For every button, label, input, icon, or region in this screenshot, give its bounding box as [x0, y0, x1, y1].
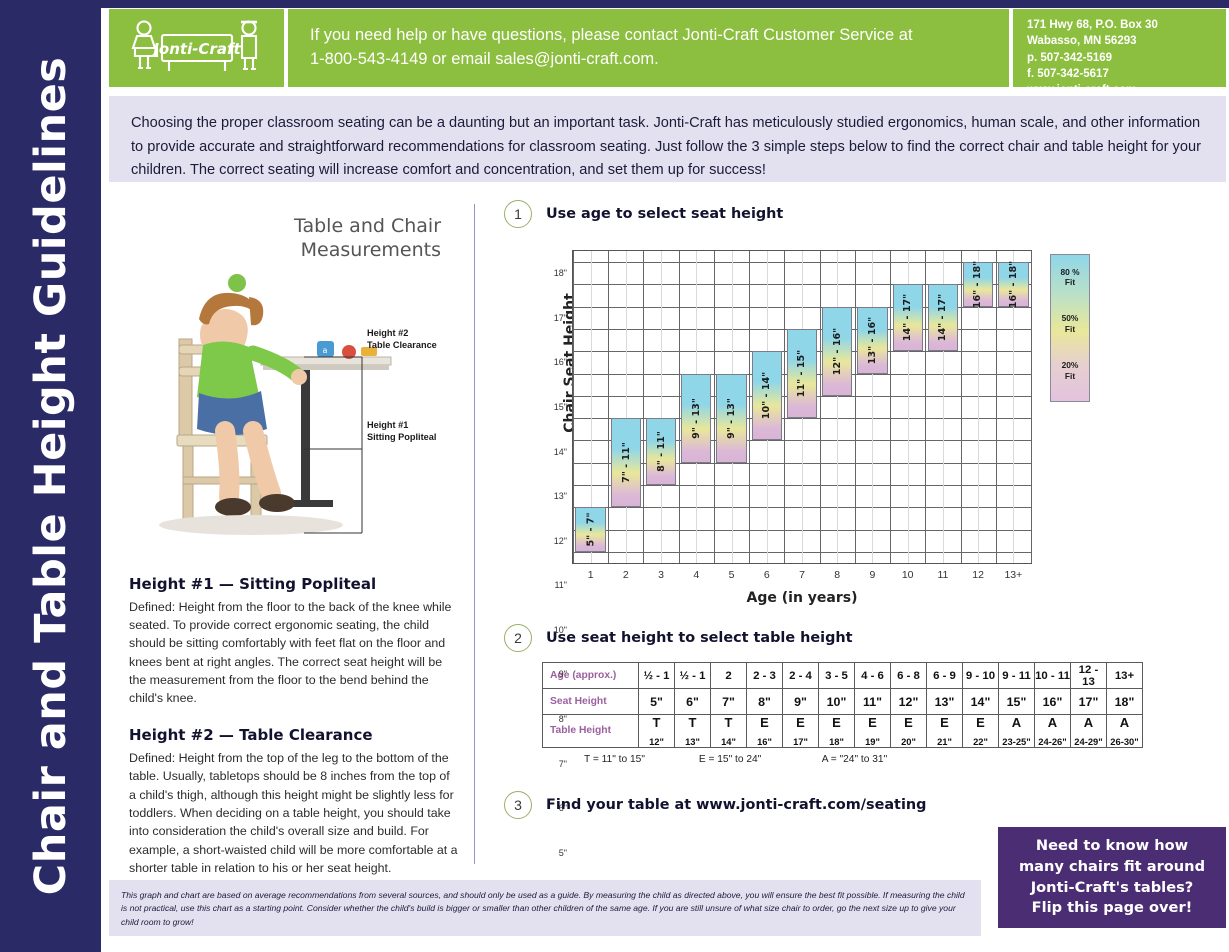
chart-gridline-v — [661, 251, 662, 563]
cell-table-height: T14" — [711, 715, 747, 748]
cell-table-height: E17" — [783, 715, 819, 748]
chart-x-tick: 2 — [623, 569, 629, 581]
cell-age: 9 - 10 — [963, 663, 999, 689]
flip-line-2: many chairs fit around — [1019, 857, 1205, 878]
measurement-brackets-icon — [304, 281, 444, 541]
chart-bar-label: 7" - 11" — [620, 442, 631, 483]
chart-bar: 7" - 11" — [611, 418, 641, 507]
table-height-code: E — [783, 715, 818, 731]
chart-gridline-v — [626, 251, 627, 563]
cell-table-height: A24-29" — [1071, 715, 1107, 748]
legend-fit-word: Fit — [1051, 324, 1089, 335]
address-line-1: 171 Hwy 68, P.O. Box 30 — [1027, 17, 1216, 33]
table-height-value: 18" — [819, 736, 854, 747]
chart-bar-label: 5" - 7" — [585, 513, 596, 547]
chart-bar-label: 16" - 18" — [1008, 261, 1019, 308]
chart-x-tick: 3 — [658, 569, 664, 581]
chart-y-tick: 10" — [554, 625, 567, 635]
table-height-value: 16" — [747, 736, 782, 747]
measurements-heading: Table and Chair Measurements — [129, 214, 459, 263]
chart-bar-label: 11" - 15" — [797, 350, 808, 397]
chart-gridline-v — [890, 251, 891, 563]
chart-x-tick: 11 — [937, 569, 948, 581]
chart-x-tick: 5 — [729, 569, 735, 581]
key-e: E = 15" to 24" — [699, 754, 819, 765]
cell-age: 6 - 8 — [891, 663, 927, 689]
phone-number: p. 507-342-5169 — [1027, 50, 1216, 66]
chart-y-tick: 5" — [559, 848, 567, 858]
intro-text: Choosing the proper classroom seating ca… — [131, 112, 1204, 183]
table-height-code: A — [1071, 715, 1106, 731]
chart-y-tick: 12" — [554, 536, 567, 546]
chart-y-tick: 11" — [554, 580, 567, 590]
legend-entry: 20%Fit — [1051, 360, 1089, 381]
annotation-height-1-line-2: Sitting Popliteal — [367, 431, 436, 443]
top-navy-strip — [101, 0, 1229, 8]
brand-logo[interactable]: Jonti-Craft — [109, 9, 284, 87]
disclaimer-panel: This graph and chart are based on averag… — [109, 880, 981, 936]
table-height-code: T — [675, 715, 710, 731]
legend-entry: 50%Fit — [1051, 313, 1089, 334]
chart-gridline-v — [573, 251, 574, 563]
chart-gridline-v — [643, 251, 644, 563]
chart-bar: 13" - 16" — [857, 307, 887, 374]
cell-seat-height: 11" — [855, 689, 891, 715]
jonti-craft-logo-icon: Jonti-Craft — [117, 17, 277, 79]
annotation-height-1-line-1: Height #1 — [367, 419, 436, 431]
chart-gridline-v — [679, 251, 680, 563]
fax-number: f. 507-342-5617 — [1027, 66, 1216, 82]
table-height-value: 23-25" — [999, 736, 1034, 747]
vertical-title-bar: Chair and Table Height Guidelines — [0, 0, 101, 952]
key-t: T = 11" to 15" — [584, 754, 696, 765]
cell-age: 2 - 3 — [747, 663, 783, 689]
chart-gridline-v — [855, 251, 856, 563]
cell-table-height: E19" — [855, 715, 891, 748]
cell-table-height: E22" — [963, 715, 999, 748]
chart-bar: 14" - 17" — [928, 284, 958, 351]
company-address: 171 Hwy 68, P.O. Box 30 Wabasso, MN 5629… — [1013, 9, 1226, 87]
annotation-height-1: Height #1 Sitting Popliteal — [367, 419, 436, 444]
annotation-height-2-line-1: Height #2 — [367, 327, 437, 339]
cell-table-height: A26-30" — [1107, 715, 1143, 748]
chart-x-tick: 10 — [902, 569, 914, 581]
table-height-value: 13" — [675, 736, 710, 747]
cell-seat-height: 5" — [639, 689, 675, 715]
chart-x-tick: 4 — [693, 569, 699, 581]
table-height-code: T — [639, 715, 674, 731]
chart-gridline-v — [837, 251, 838, 563]
customer-service-message: If you need help or have questions, plea… — [288, 9, 1009, 87]
table-height-value: 24-26" — [1035, 736, 1070, 747]
step-2-label: Use seat height to select table height — [546, 630, 853, 646]
cell-table-height: T12" — [639, 715, 675, 748]
cell-seat-height: 12" — [891, 689, 927, 715]
right-column: 1 Use age to select seat height Chair Se… — [504, 200, 1226, 819]
size-table: Age (approx.)½ - 1½ - 122 - 32 - 43 - 54… — [542, 662, 1143, 748]
cell-seat-height: 18" — [1107, 689, 1143, 715]
address-line-2: Wabasso, MN 56293 — [1027, 33, 1216, 49]
row-label-age: Age (approx.) — [543, 663, 639, 689]
table-height-value: 22" — [963, 736, 998, 747]
chart-y-tick: 15" — [554, 402, 567, 412]
chart-y-tick: 18" — [554, 268, 567, 278]
cell-age: 13+ — [1107, 663, 1143, 689]
chart-x-tick: 8 — [834, 569, 840, 581]
content-area: Table and Chair Measurements a — [109, 192, 1226, 880]
chart-gridline-v — [996, 251, 997, 563]
flip-line-1: Need to know how — [1019, 836, 1205, 857]
table-row: Seat Height5"6"7"8"9"10"11"12"13"14"15"1… — [543, 689, 1143, 715]
cell-seat-height: 6" — [675, 689, 711, 715]
cell-seat-height: 13" — [927, 689, 963, 715]
chart-plot-area: 5"6"7"8"9"10"11"12"13"14"15"16"17"18"123… — [572, 250, 1032, 564]
row-label-seat-height: Seat Height — [543, 689, 639, 715]
chart-bar-label: 9" - 13" — [691, 398, 702, 439]
cell-seat-height: 7" — [711, 689, 747, 715]
cell-age: 10 - 11 — [1035, 663, 1071, 689]
table-height-code: E — [963, 715, 998, 731]
cell-seat-height: 16" — [1035, 689, 1071, 715]
table-height-value: 20" — [891, 736, 926, 747]
step-3: 3 Find your table at www.jonti-craft.com… — [504, 791, 1226, 819]
disclaimer-text: This graph and chart are based on averag… — [121, 889, 969, 929]
height-2-body: Defined: Height from the top of the leg … — [129, 749, 459, 878]
chart-bar: 10" - 14" — [752, 351, 782, 440]
cell-age: ½ - 1 — [675, 663, 711, 689]
legend-percent: 80 % — [1051, 267, 1089, 278]
cell-age: 2 - 4 — [783, 663, 819, 689]
measurements-heading-line-2: Measurements — [129, 238, 441, 262]
chart-bar-label: 13" - 16" — [867, 316, 878, 363]
chart-gridline-v — [608, 251, 609, 563]
chart-x-tick: 9 — [870, 569, 876, 581]
cell-seat-height: 14" — [963, 689, 999, 715]
cell-table-height: E21" — [927, 715, 963, 748]
header: Jonti-Craft If you need help or have que… — [109, 9, 1226, 87]
cs-message-line-2: 1-800-543-4149 or email sales@jonti-craf… — [310, 48, 913, 72]
size-table-key: T = 11" to 15" E = 15" to 24" A = "24" t… — [584, 754, 1226, 765]
chart-bar-label: 9" - 13" — [726, 398, 737, 439]
table-height-value: 21" — [927, 736, 962, 747]
step-3-number: 3 — [504, 791, 532, 819]
cell-age: 3 - 5 — [819, 663, 855, 689]
measurements-heading-line-1: Table and Chair — [129, 214, 441, 238]
page-title: Chair and Table Height Guidelines — [0, 0, 101, 952]
child-seated-photo: a — [129, 267, 459, 557]
cell-age: 9 - 11 — [999, 663, 1035, 689]
table-height-value: 26-30" — [1107, 736, 1142, 747]
legend-percent: 20% — [1051, 360, 1089, 371]
chart-gridline-v — [872, 251, 873, 563]
chart-bar: 11" - 15" — [787, 329, 817, 418]
age-seat-height-chart: Chair Seat Height (in inches) 5"6"7"8"9"… — [504, 242, 1226, 632]
chart-x-tick: 12 — [972, 569, 984, 581]
chart-gridline-v — [820, 251, 821, 563]
height-2-heading: Height #2 — Table Clearance — [129, 726, 459, 744]
table-row: Table HeightT12"T13"T14"E16"E17"E18"E19"… — [543, 715, 1143, 748]
table-row: Age (approx.)½ - 1½ - 122 - 32 - 43 - 54… — [543, 663, 1143, 689]
page-root: Chair and Table Height Guidelines — [0, 0, 1229, 952]
table-height-value: 24-29" — [1071, 736, 1106, 747]
step-1-label: Use age to select seat height — [546, 206, 783, 222]
chart-bar: 8" - 11" — [646, 418, 676, 485]
left-column: Table and Chair Measurements a — [129, 200, 459, 877]
chart-y-tick: 17" — [554, 313, 567, 323]
table-height-value: 17" — [783, 736, 818, 747]
chart-y-tick: 7" — [559, 759, 567, 769]
table-height-code: E — [747, 715, 782, 731]
chart-bar: 12" - 16" — [822, 307, 852, 396]
chart-legend: 80 %Fit50%Fit20%Fit — [1050, 254, 1090, 402]
chart-gridline-v — [1031, 251, 1032, 563]
table-height-value: 19" — [855, 736, 890, 747]
size-table-wrapper: Age (approx.)½ - 1½ - 122 - 32 - 43 - 54… — [542, 662, 1226, 765]
cell-seat-height: 15" — [999, 689, 1035, 715]
chart-x-tick: 1 — [588, 569, 594, 581]
table-height-code: E — [891, 715, 926, 731]
chart-bar: 9" - 13" — [716, 374, 746, 463]
chart-bar-label: 10" - 14" — [761, 372, 772, 419]
chart-bar: 16" - 18" — [963, 262, 993, 307]
chart-x-tick: 6 — [764, 569, 770, 581]
legend-fit-word: Fit — [1051, 371, 1089, 382]
chart-gridline-v — [925, 251, 926, 563]
chart-y-tick: 9" — [559, 669, 567, 679]
cell-age: 6 - 9 — [927, 663, 963, 689]
flip-page-callout: Need to know how many chairs fit around … — [998, 827, 1226, 928]
annotation-height-2-line-2: Table Clearance — [367, 339, 437, 351]
chart-bar-label: 8" - 11" — [656, 431, 667, 472]
cell-table-height: E18" — [819, 715, 855, 748]
chart-y-tick: 13" — [554, 491, 567, 501]
chart-y-tick: 14" — [554, 447, 567, 457]
chart-gridline-v — [714, 251, 715, 563]
chart-bar: 16" - 18" — [998, 262, 1028, 307]
table-height-code: A — [999, 715, 1034, 731]
chart-gridline-v — [961, 251, 962, 563]
chart-bar-label: 12" - 16" — [832, 328, 843, 375]
svg-text:Jonti-Craft: Jonti-Craft — [150, 40, 241, 58]
table-height-value: 12" — [639, 736, 674, 747]
cell-table-height: A23-25" — [999, 715, 1035, 748]
chart-x-tick: 13+ — [1004, 569, 1022, 581]
step-3-label[interactable]: Find your table at www.jonti-craft.com/s… — [546, 797, 926, 813]
cell-age: ½ - 1 — [639, 663, 675, 689]
cell-age: 4 - 6 — [855, 663, 891, 689]
table-height-code: E — [855, 715, 890, 731]
intro-panel: Choosing the proper classroom seating ca… — [109, 96, 1226, 182]
legend-entry: 80 %Fit — [1051, 267, 1089, 288]
table-height-code: A — [1035, 715, 1070, 731]
step-1: 1 Use age to select seat height — [504, 200, 1226, 228]
cell-table-height: E20" — [891, 715, 927, 748]
column-divider — [474, 204, 475, 864]
cell-seat-height: 10" — [819, 689, 855, 715]
cell-seat-height: 9" — [783, 689, 819, 715]
chart-bar: 5" - 7" — [575, 507, 605, 552]
cell-table-height: E16" — [747, 715, 783, 748]
annotation-height-2: Height #2 Table Clearance — [367, 327, 437, 352]
legend-fit-word: Fit — [1051, 277, 1089, 288]
key-a: A = "24" to 31" — [822, 754, 888, 765]
cell-seat-height: 17" — [1071, 689, 1107, 715]
flip-line-4: Flip this page over! — [1019, 898, 1205, 919]
table-height-code: T — [711, 715, 746, 731]
cs-message-line-1: If you need help or have questions, plea… — [310, 24, 913, 48]
flip-line-3: Jonti-Craft's tables? — [1019, 878, 1205, 899]
chart-y-tick: 16" — [554, 357, 567, 367]
chart-bar-label: 16" - 18" — [973, 261, 984, 308]
chart-y-tick: 8" — [559, 714, 567, 724]
chart-bar: 9" - 13" — [681, 374, 711, 463]
height-1-heading: Height #1 — Sitting Popliteal — [129, 575, 459, 593]
table-height-value: 14" — [711, 736, 746, 747]
row-label-table-height: Table Height — [543, 715, 639, 748]
chart-gridline-v — [784, 251, 785, 563]
chart-gridline-v — [749, 251, 750, 563]
table-height-code: E — [819, 715, 854, 731]
chart-x-tick: 7 — [799, 569, 805, 581]
legend-percent: 50% — [1051, 313, 1089, 324]
chart-bar-label: 14" - 17" — [937, 294, 948, 341]
cell-table-height: T13" — [675, 715, 711, 748]
chart-y-tick: 6" — [559, 803, 567, 813]
table-height-code: E — [927, 715, 962, 731]
chart-x-axis-label: Age (in years) — [572, 590, 1032, 606]
cell-seat-height: 8" — [747, 689, 783, 715]
table-height-code: A — [1107, 715, 1142, 731]
cell-table-height: A24-26" — [1035, 715, 1071, 748]
cell-age: 12 - 13 — [1071, 663, 1107, 689]
cell-age: 2 — [711, 663, 747, 689]
chart-bar-label: 14" - 17" — [902, 294, 913, 341]
step-1-number: 1 — [504, 200, 532, 228]
height-1-body: Defined: Height from the floor to the ba… — [129, 598, 459, 708]
chart-bar: 14" - 17" — [893, 284, 923, 351]
